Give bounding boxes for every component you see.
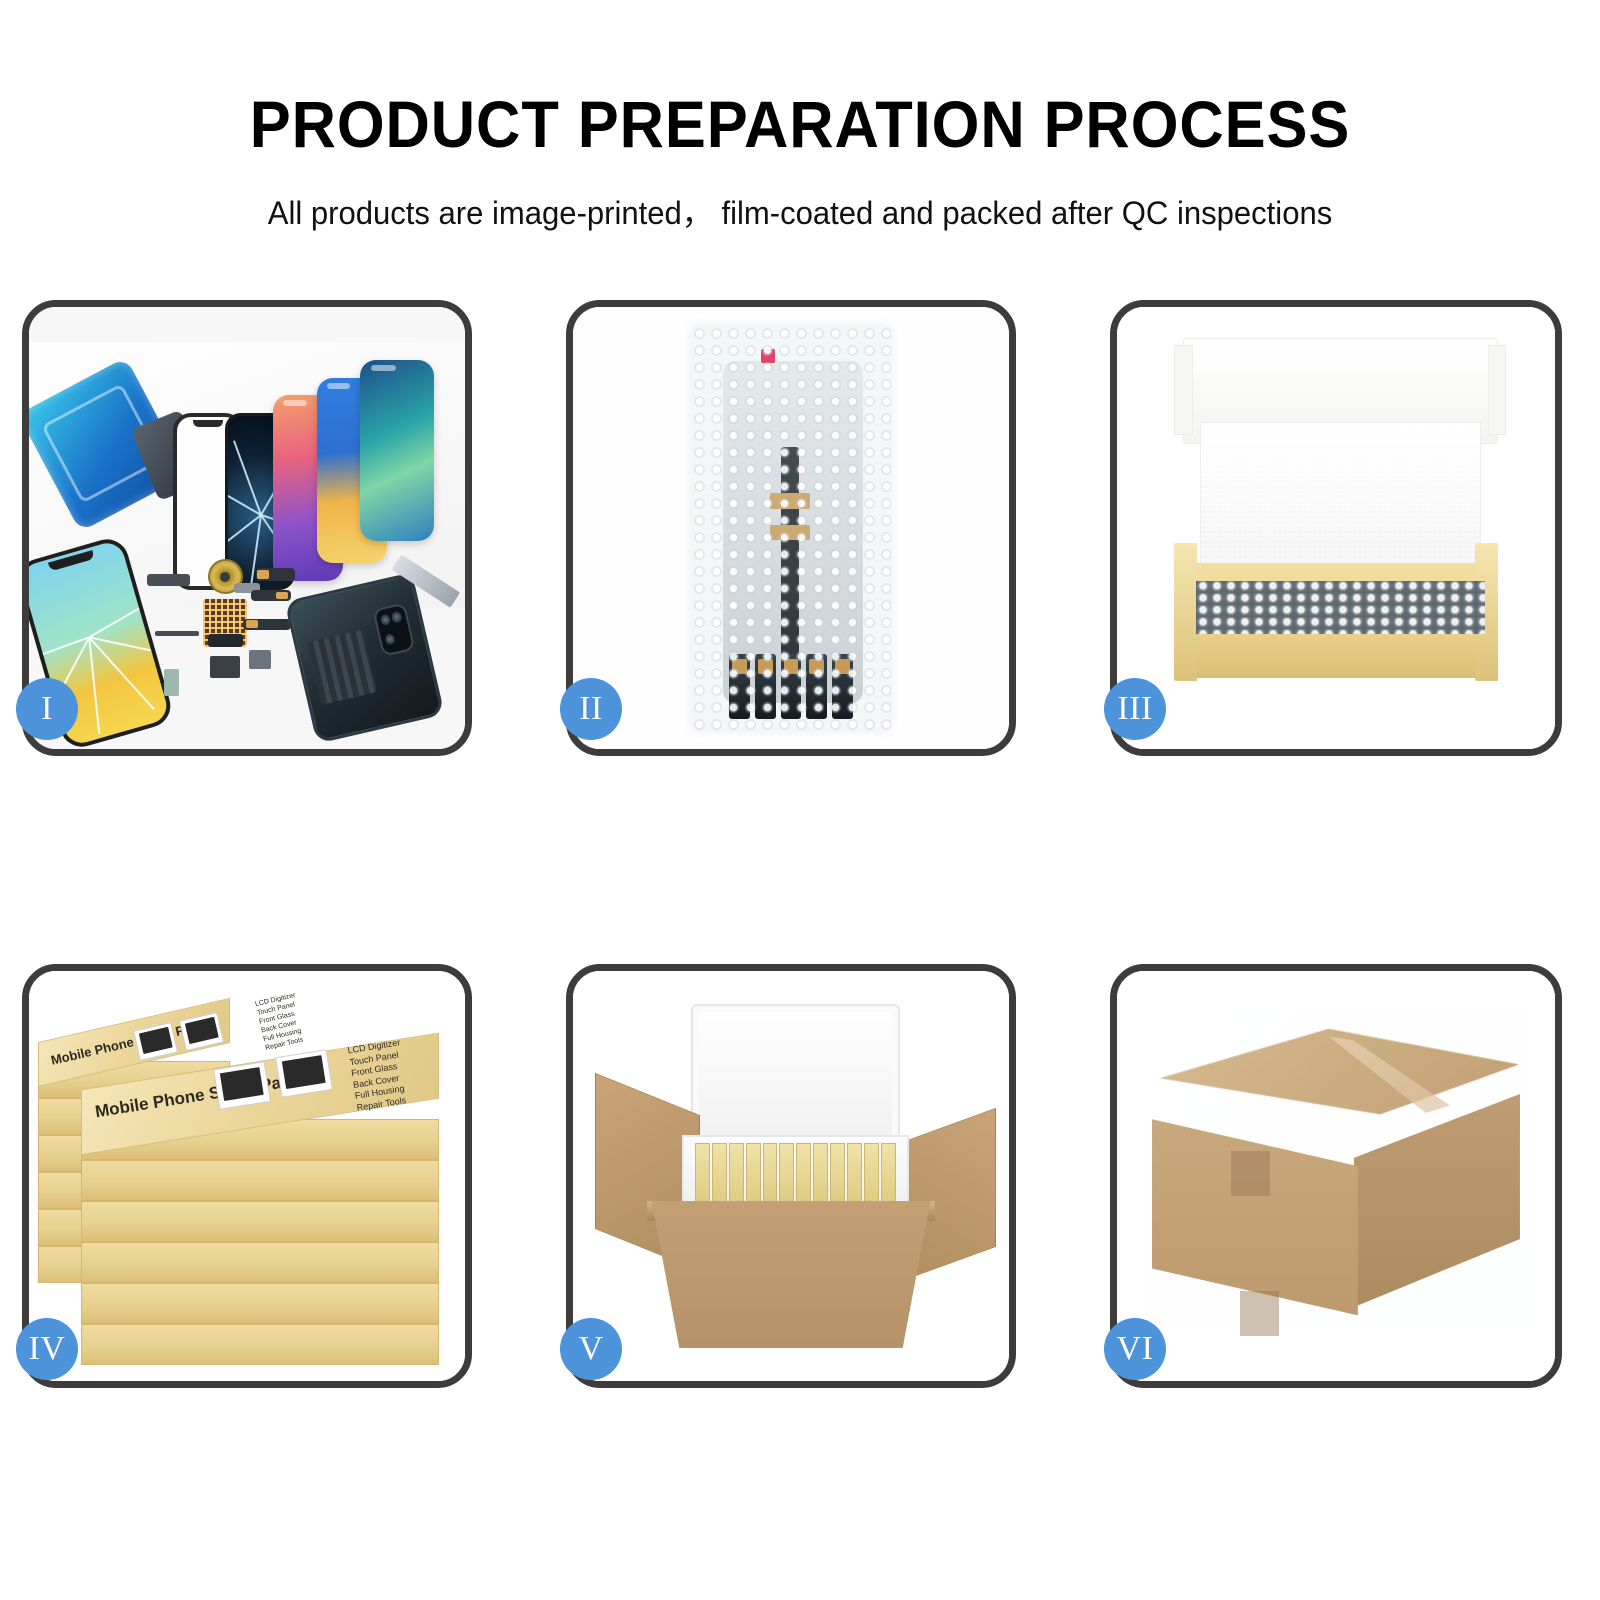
open-shipping-carton	[573, 971, 1009, 1381]
infographic-page: PRODUCT PREPARATION PROCESS All products…	[0, 0, 1600, 1600]
step-badge-1: I	[16, 678, 78, 740]
grey-bubble-wrap-layer	[1196, 581, 1485, 634]
retail-box-front-5	[81, 1283, 439, 1324]
open-mailer-box	[1117, 307, 1555, 749]
retail-box-front-screen-image-1	[214, 1061, 272, 1110]
panel-open-mailer-box-image	[1117, 307, 1555, 749]
speaker-module-part	[210, 656, 241, 678]
carton-front-face	[1152, 1102, 1358, 1315]
carton-body	[651, 1201, 930, 1349]
bubble-wrap-scene	[573, 307, 1009, 749]
phone-parts-collage	[29, 307, 465, 749]
bubble-texture-overlay	[691, 325, 892, 732]
retail-box-front-screen-image-2	[275, 1049, 333, 1098]
power-flex-cable-part	[256, 568, 295, 581]
retail-box-front-6	[81, 1324, 439, 1365]
panel-carton-with-foam-box	[566, 964, 1016, 1388]
panel-sealed-shipping-carton-image	[1117, 971, 1555, 1381]
step-badge-6: VI	[1104, 1318, 1166, 1380]
connector-strip-part	[147, 574, 191, 585]
step-badge-5: V	[560, 1318, 622, 1380]
camera-module-part	[373, 603, 415, 657]
step-badge-3: III	[1104, 678, 1166, 740]
mailer-lid-tab-right	[1488, 345, 1507, 435]
volume-flex-cable-part	[251, 590, 290, 601]
retail-box-front-checklist: LCD Digitizer Touch Panel Front Glass Ba…	[347, 1037, 410, 1114]
step-badge-4: IV	[16, 1318, 78, 1380]
panel-bubble-wrapped-screen-image	[573, 307, 1009, 749]
mailer-lid-tab-left	[1174, 345, 1193, 435]
retail-box-front-3	[81, 1201, 439, 1242]
panel-parts-collage	[22, 300, 472, 756]
side-button-flex-part	[243, 619, 291, 630]
vibration-motor-part	[249, 650, 271, 670]
panel-parts-collage-image	[29, 307, 465, 749]
panel-stacked-retail-boxes-image: Mobile Phone Spare Parts Mobile Phone Sp…	[29, 971, 465, 1381]
sim-tray-part	[164, 669, 179, 696]
retail-box-front-2	[81, 1160, 439, 1201]
mailer-tray-side-left	[1174, 543, 1197, 681]
battery-part	[307, 630, 377, 706]
panel-open-mailer-box	[1110, 300, 1562, 756]
retail-box-front-4	[81, 1242, 439, 1283]
eps-foam-lid	[691, 1004, 900, 1143]
phone-display-teal-wave	[360, 360, 434, 541]
home-button-flex-part	[155, 616, 199, 651]
step-badge-2: II	[560, 678, 622, 740]
carton-side-face	[1354, 1094, 1520, 1307]
retail-box-rear-checklist: LCD Digitizer Touch Panel Front Glass Ba…	[255, 992, 307, 1054]
carton-tape-tab-upper	[1231, 1151, 1270, 1196]
retail-box-stack: Mobile Phone Spare Parts Mobile Phone Sp…	[29, 971, 465, 1381]
panel-carton-with-foam-box-image	[573, 971, 1009, 1381]
process-grid: I	[0, 0, 1600, 1600]
bubble-wrap-bag	[691, 325, 892, 732]
panel-stacked-retail-boxes: Mobile Phone Spare Parts Mobile Phone Sp…	[22, 964, 472, 1388]
panel-sealed-shipping-carton	[1110, 964, 1562, 1388]
antenna-module-part	[208, 634, 243, 647]
panel-bubble-wrapped-screen	[566, 300, 1016, 756]
sealed-shipping-carton	[1117, 971, 1555, 1381]
gold-boxes-inside-foam	[695, 1143, 896, 1209]
carton-tape-tab-lower	[1240, 1291, 1279, 1336]
